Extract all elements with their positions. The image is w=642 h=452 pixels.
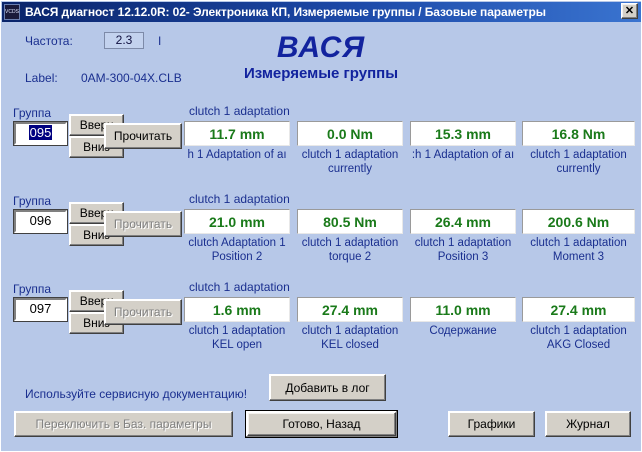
value-caption-097-3: Содержание xyxy=(410,324,516,338)
group-number-input-096[interactable]: 096 xyxy=(14,210,67,233)
value-box-095-4: 16.8 Nm xyxy=(522,121,635,146)
group-number-input-095[interactable]: 095 xyxy=(14,122,67,145)
value-caption-097-1: clutch 1 adaptation KEL open xyxy=(184,324,290,352)
value-box-097-4: 27.4 mm xyxy=(522,297,635,322)
value-caption-095-4: clutch 1 adaptation currently xyxy=(522,148,635,176)
group-label-097: Группа xyxy=(13,282,51,296)
journal-button[interactable]: Журнал xyxy=(545,411,631,437)
add-to-log-button[interactable]: Добавить в лог xyxy=(269,374,386,401)
close-icon[interactable]: ✕ xyxy=(621,3,638,19)
value-caption-096-4: clutch 1 adaptation Moment 3 xyxy=(522,236,635,264)
value-box-095-1: 11.7 mm xyxy=(184,121,290,146)
switch-to-basic-params-button[interactable]: Переключить в Баз. параметры xyxy=(14,411,233,437)
group-read-button-096[interactable]: Прочитать xyxy=(104,211,182,237)
value-box-097-2: 27.4 mm xyxy=(297,297,403,322)
brand-title: ВАСЯ xyxy=(1,31,641,65)
title-bar: VCDS ВАСЯ диагност 12.12.0R: 02- Электро… xyxy=(2,2,642,22)
group-title-095: clutch 1 adaptation xyxy=(189,104,290,118)
value-box-095-2: 0.0 Nm xyxy=(297,121,403,146)
value-caption-096-2: clutch 1 adaptation torque 2 xyxy=(297,236,403,264)
window-title: ВАСЯ диагност 12.12.0R: 02- Электроника … xyxy=(25,5,546,19)
group-title-096: clutch 1 adaptation xyxy=(189,192,290,206)
value-box-096-1: 21.0 mm xyxy=(184,209,290,234)
group-number-value: 095 xyxy=(29,125,53,140)
value-caption-097-2: clutch 1 adaptation KEL closed xyxy=(297,324,403,352)
value-caption-096-1: clutch Adaptation 1 Position 2 xyxy=(184,236,290,264)
value-caption-097-4: clutch 1 adaptation AKG Closed xyxy=(522,324,635,352)
group-label-095: Группа xyxy=(13,106,51,120)
group-read-button-095[interactable]: Прочитать xyxy=(104,123,182,149)
value-box-097-1: 1.6 mm xyxy=(184,297,290,322)
service-doc-hint: Используйте сервисную документацию! xyxy=(25,387,247,401)
value-box-096-2: 80.5 Nm xyxy=(297,209,403,234)
value-box-096-4: 200.6 Nm xyxy=(522,209,635,234)
value-caption-095-3: :h 1 Adaptation of aı xyxy=(410,148,516,162)
done-back-button-label: Готово, Назад xyxy=(247,412,396,436)
value-box-095-3: 15.3 mm xyxy=(410,121,516,146)
value-caption-095-1: h 1 Adaptation of aı xyxy=(184,148,290,162)
group-label-096: Группа xyxy=(13,194,51,208)
done-back-button[interactable]: Готово, Назад xyxy=(245,410,398,438)
group-read-button-097[interactable]: Прочитать xyxy=(104,299,182,325)
value-box-097-3: 11.0 mm xyxy=(410,297,516,322)
value-caption-096-3: clutch 1 adaptation Position 3 xyxy=(410,236,516,264)
charts-button[interactable]: Графики xyxy=(448,411,535,437)
group-number-input-097[interactable]: 097 xyxy=(14,298,67,321)
app-icon: VCDS xyxy=(4,4,20,20)
application-window: VCDS ВАСЯ диагност 12.12.0R: 02- Электро… xyxy=(0,0,642,452)
value-caption-095-2: clutch 1 adaptation currently xyxy=(297,148,403,176)
brand-subtitle: Измеряемые группы xyxy=(1,65,641,82)
value-box-096-3: 26.4 mm xyxy=(410,209,516,234)
group-title-097: clutch 1 adaptation xyxy=(189,280,290,294)
